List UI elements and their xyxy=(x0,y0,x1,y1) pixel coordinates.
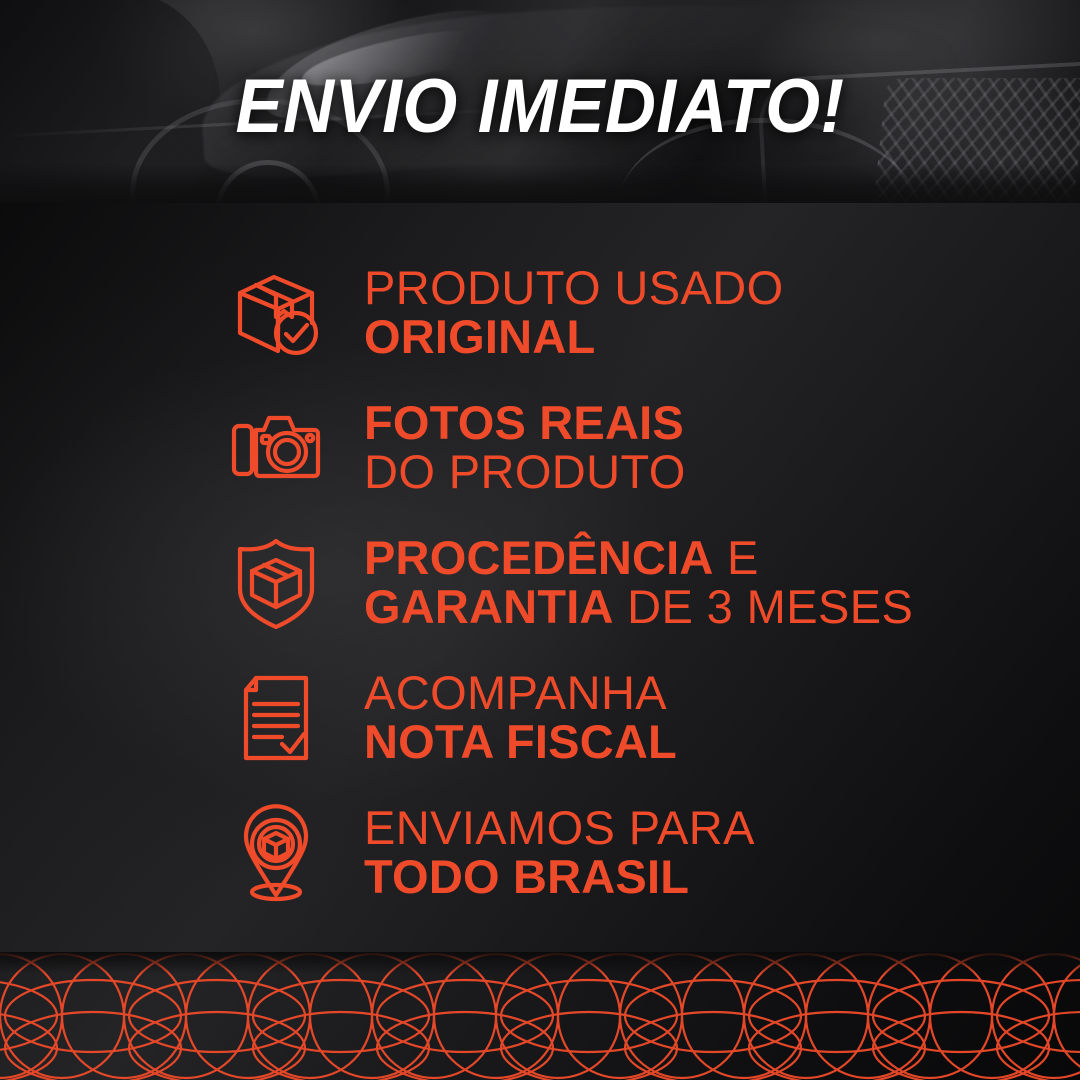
location-pin-box-icon xyxy=(226,803,326,903)
feature-row-nota-fiscal: ACOMPANHA NOTA FISCAL xyxy=(0,650,1080,785)
feature-line-2-light: DE 3 MESES xyxy=(614,580,914,633)
page-title: ENVIO IMEDIATO! xyxy=(38,0,1042,205)
feature-line-1: PRODUTO USADO xyxy=(364,264,784,312)
feature-line-2: DO PRODUTO xyxy=(364,448,686,496)
invoice-check-icon xyxy=(226,668,326,768)
feature-line-1-light: E xyxy=(714,531,759,584)
header-banner: ENVIO IMEDIATO! xyxy=(0,0,1080,205)
feature-text: ENVIAMOS PARA TODO BRASIL xyxy=(364,804,755,901)
feature-text: PROCEDÊNCIA E GARANTIA DE 3 MESES xyxy=(364,534,913,631)
feature-row-produto-usado-original: PRODUTO USADO ORIGINAL xyxy=(0,245,1080,380)
feature-line-2: GARANTIA DE 3 MESES xyxy=(364,583,913,631)
feature-line-1: FOTOS REAIS xyxy=(364,399,686,447)
feature-text: PRODUTO USADO ORIGINAL xyxy=(364,264,784,361)
feature-row-procedencia-garantia: PROCEDÊNCIA E GARANTIA DE 3 MESES xyxy=(0,515,1080,650)
feature-line-2-bold: GARANTIA xyxy=(364,580,614,633)
shield-box-icon xyxy=(226,533,326,633)
camera-icon xyxy=(226,398,326,498)
box-check-icon xyxy=(226,263,326,363)
feature-line-2: TODO BRASIL xyxy=(364,853,755,901)
footer-pattern xyxy=(0,952,1080,1080)
feature-line-2: NOTA FISCAL xyxy=(364,718,677,766)
feature-row-fotos-reais: FOTOS REAIS DO PRODUTO xyxy=(0,380,1080,515)
feature-list: PRODUTO USADO ORIGINAL FOTOS REAIS xyxy=(0,203,1080,920)
feature-row-todo-brasil: ENVIAMOS PARA TODO BRASIL xyxy=(0,785,1080,920)
feature-text: ACOMPANHA NOTA FISCAL xyxy=(364,669,677,766)
feature-line-1: PROCEDÊNCIA E xyxy=(364,534,913,582)
feature-line-1-bold: PROCEDÊNCIA xyxy=(364,531,714,584)
promo-banner: ENVIO IMEDIATO! PRODUTO USADO ORIGINAL xyxy=(0,0,1080,1080)
feature-line-2: ORIGINAL xyxy=(364,313,784,361)
feature-text: FOTOS REAIS DO PRODUTO xyxy=(364,399,686,496)
feature-line-1: ENVIAMOS PARA xyxy=(364,804,755,852)
feature-line-1: ACOMPANHA xyxy=(364,669,677,717)
